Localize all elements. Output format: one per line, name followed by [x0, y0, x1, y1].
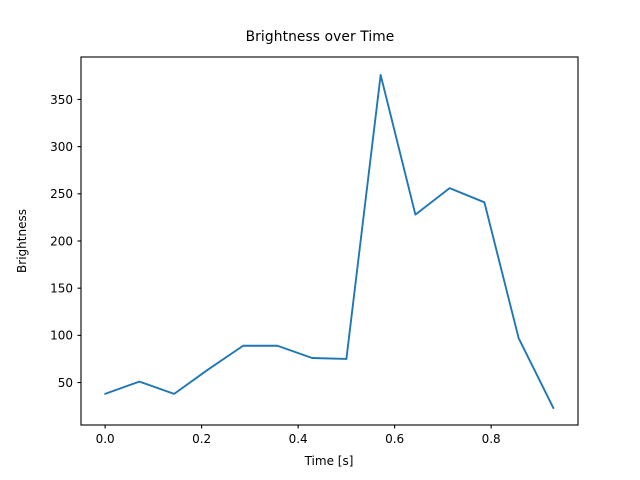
figure-canvas: Brightness over Time 0.00.20.40.60.8 501… [0, 0, 640, 480]
axes-frame [81, 57, 578, 425]
chart-plot-area: 0.00.20.40.60.8 50100150200250300350 Tim… [0, 0, 640, 480]
x-tick-label: 0.8 [482, 432, 501, 446]
y-tick-label: 250 [50, 187, 73, 201]
y-tick-label: 300 [50, 140, 73, 154]
y-tick-label: 150 [50, 281, 73, 295]
data-series-group [105, 75, 553, 408]
x-axis-label: Time [s] [304, 454, 354, 468]
x-tick-label: 0.0 [96, 432, 115, 446]
axes-group [81, 57, 578, 425]
y-tick-label: 350 [50, 93, 73, 107]
y-tick-label: 50 [58, 376, 73, 390]
data-line-brightness [105, 75, 553, 408]
x-axis-ticks: 0.00.20.40.60.8 [96, 425, 501, 446]
y-tick-label: 200 [50, 234, 73, 248]
x-tick-label: 0.6 [385, 432, 404, 446]
y-axis-label: Brightness [15, 209, 29, 273]
x-tick-label: 0.4 [289, 432, 308, 446]
y-tick-label: 100 [50, 329, 73, 343]
y-axis-ticks: 50100150200250300350 [50, 93, 81, 390]
x-tick-label: 0.2 [192, 432, 211, 446]
